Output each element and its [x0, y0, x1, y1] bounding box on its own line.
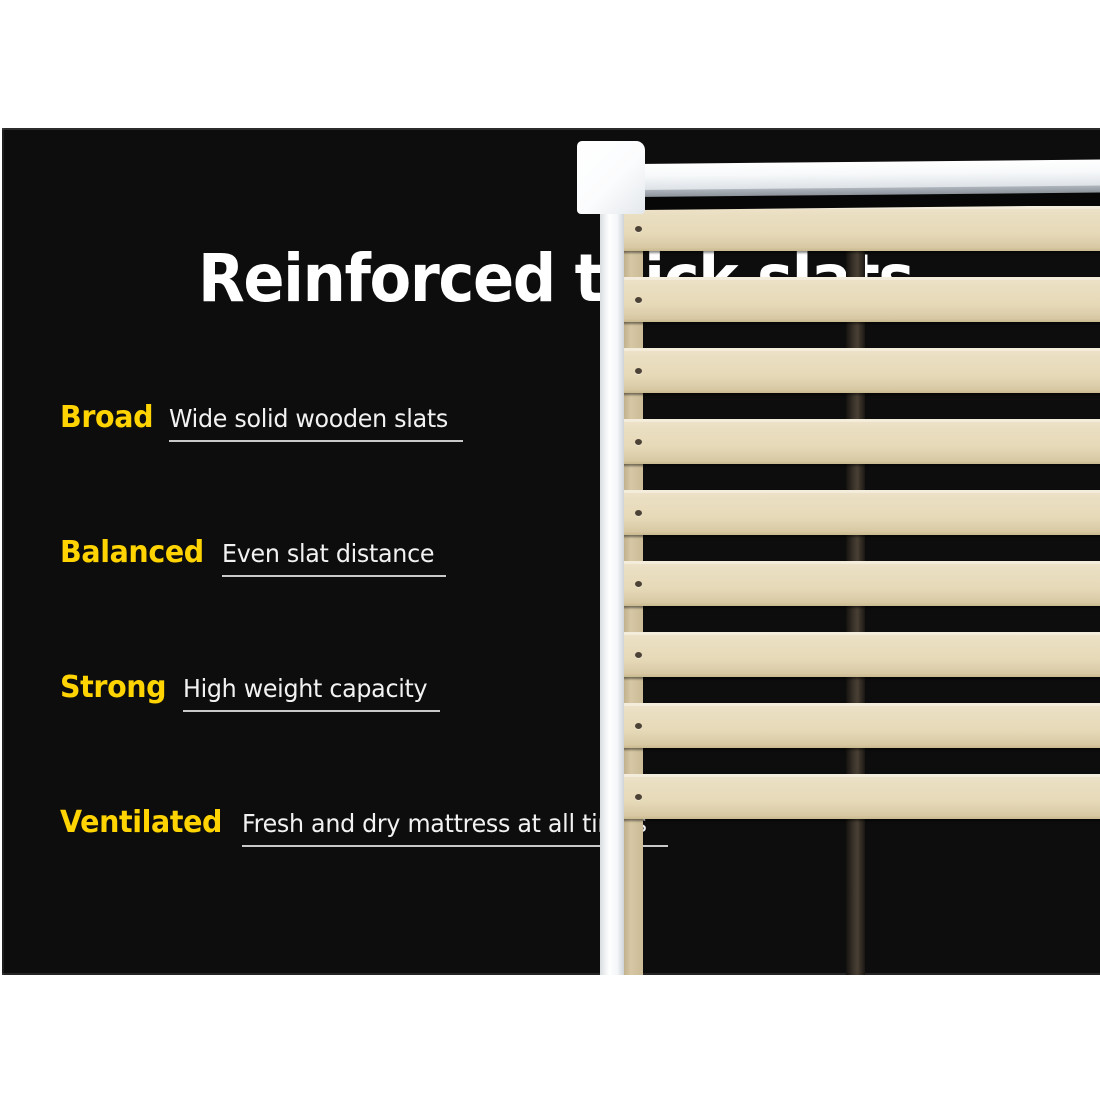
feature-row: Ventilated Fresh and dry mattress at all…	[60, 805, 580, 847]
feature-description-strong: High weight capacity	[183, 674, 427, 703]
feature-item-broad: Broad Wide solid wooden slats	[60, 400, 580, 535]
wooden-slat	[621, 561, 1100, 606]
feature-description-balanced: Even slat distance	[222, 539, 434, 568]
feature-item-ventilated: Ventilated Fresh and dry mattress at all…	[60, 805, 580, 940]
wooden-slat	[621, 277, 1100, 322]
wooden-slat	[621, 774, 1100, 819]
frame-corner-bracket	[577, 141, 645, 214]
feature-item-strong: Strong High weight capacity	[60, 670, 580, 805]
feature-item-balanced: Balanced Even slat distance	[60, 535, 580, 670]
feature-term-ventilated: Ventilated	[60, 805, 222, 840]
feature-term-strong: Strong	[60, 670, 166, 705]
frame-leg-post	[600, 200, 624, 975]
slat-screw-icon	[635, 581, 642, 587]
slat-screw-icon	[635, 652, 642, 658]
wooden-slat	[621, 419, 1100, 464]
feature-description-underline: Even slat distance	[222, 539, 445, 577]
feature-description-underline: Wide solid wooden slats	[169, 404, 463, 442]
feature-term-balanced: Balanced	[60, 535, 204, 570]
wooden-slat	[621, 632, 1100, 677]
slat-screw-icon	[635, 794, 642, 800]
panel-left-highlight	[2, 128, 4, 975]
hero-black-panel: Reinforced thick slats Broad Wide solid …	[2, 128, 1100, 975]
feature-row: Broad Wide solid wooden slats	[60, 400, 580, 442]
slat-screw-icon	[635, 723, 642, 729]
slat-screw-icon	[635, 439, 642, 445]
feature-description-underline: High weight capacity	[183, 674, 440, 712]
feature-list: Broad Wide solid wooden slats Balanced E…	[60, 400, 580, 940]
wooden-slat	[621, 490, 1100, 535]
wooden-slat	[621, 206, 1100, 251]
feature-row: Balanced Even slat distance	[60, 535, 580, 577]
wooden-slat	[621, 703, 1100, 748]
slat-screw-icon	[635, 368, 642, 374]
marketing-image-canvas: Reinforced thick slats Broad Wide solid …	[0, 0, 1100, 1100]
slat-screw-icon	[635, 297, 642, 303]
slat-screw-icon	[635, 226, 642, 232]
slat-screw-icon	[635, 510, 642, 516]
feature-term-broad: Broad	[60, 400, 153, 435]
feature-description-broad: Wide solid wooden slats	[169, 404, 448, 433]
feature-row: Strong High weight capacity	[60, 670, 580, 712]
bed-side-rail	[637, 160, 1100, 190]
wooden-slat	[621, 348, 1100, 393]
product-photo-bed-slat-base	[575, 128, 1100, 975]
